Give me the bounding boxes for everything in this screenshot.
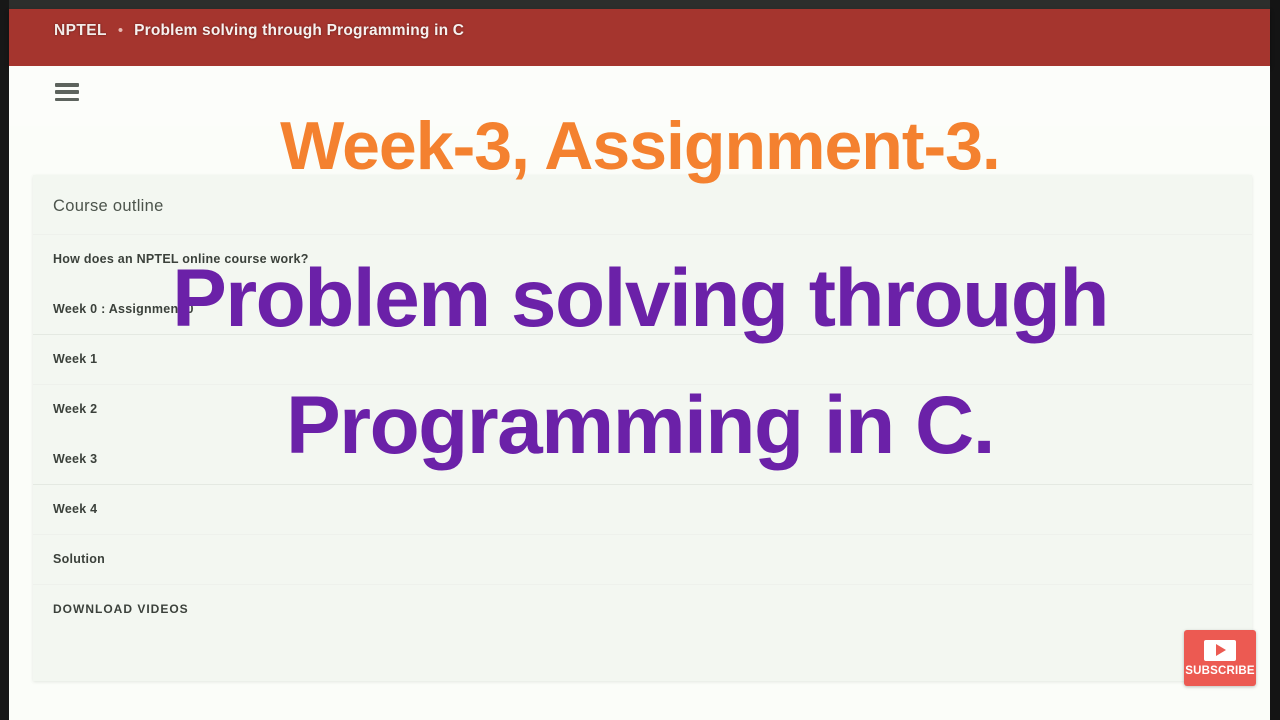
play-triangle-icon (1216, 644, 1226, 656)
overlay-headline: Week-3, Assignment-3. (0, 112, 1280, 180)
youtube-play-icon (1204, 640, 1236, 661)
video-frame: NPTEL • Problem solving through Programm… (0, 0, 1280, 720)
top-letterbox-bar (0, 0, 1280, 9)
nptel-brand-label[interactable]: NPTEL (54, 22, 107, 40)
hamburger-menu-icon[interactable] (55, 81, 82, 103)
outline-item-solution[interactable]: Solution (33, 534, 1252, 584)
outline-item-label: Week 4 (53, 502, 97, 516)
subscribe-button[interactable]: SUBSCRIBE (1184, 630, 1256, 686)
outline-item-week-4[interactable]: Week 4 (33, 484, 1252, 534)
outline-item-download-videos[interactable]: DOWNLOAD VIDEOS (33, 584, 1252, 634)
hamburger-bar-2 (55, 90, 79, 94)
breadcrumb-separator-icon: • (118, 23, 123, 38)
overlay-subhead-line-1: Problem solving through (0, 258, 1280, 340)
right-letterbox-gutter (1270, 0, 1280, 720)
app-header-content: NPTEL • Problem solving through Programm… (9, 9, 1270, 53)
subscribe-label: SUBSCRIBE (1185, 665, 1255, 677)
app-header-bar: NPTEL • Problem solving through Programm… (9, 9, 1270, 66)
overlay-subhead-line-2: Programming in C. (0, 385, 1280, 467)
outline-item-label: DOWNLOAD VIDEOS (53, 602, 189, 616)
hamburger-bar-1 (55, 83, 79, 87)
left-letterbox-gutter (0, 0, 9, 720)
course-title-label[interactable]: Problem solving through Programming in C (134, 22, 464, 40)
outline-item-label: Solution (53, 552, 105, 566)
outline-item-label: Week 1 (53, 352, 97, 366)
hamburger-bar-3 (55, 98, 79, 102)
